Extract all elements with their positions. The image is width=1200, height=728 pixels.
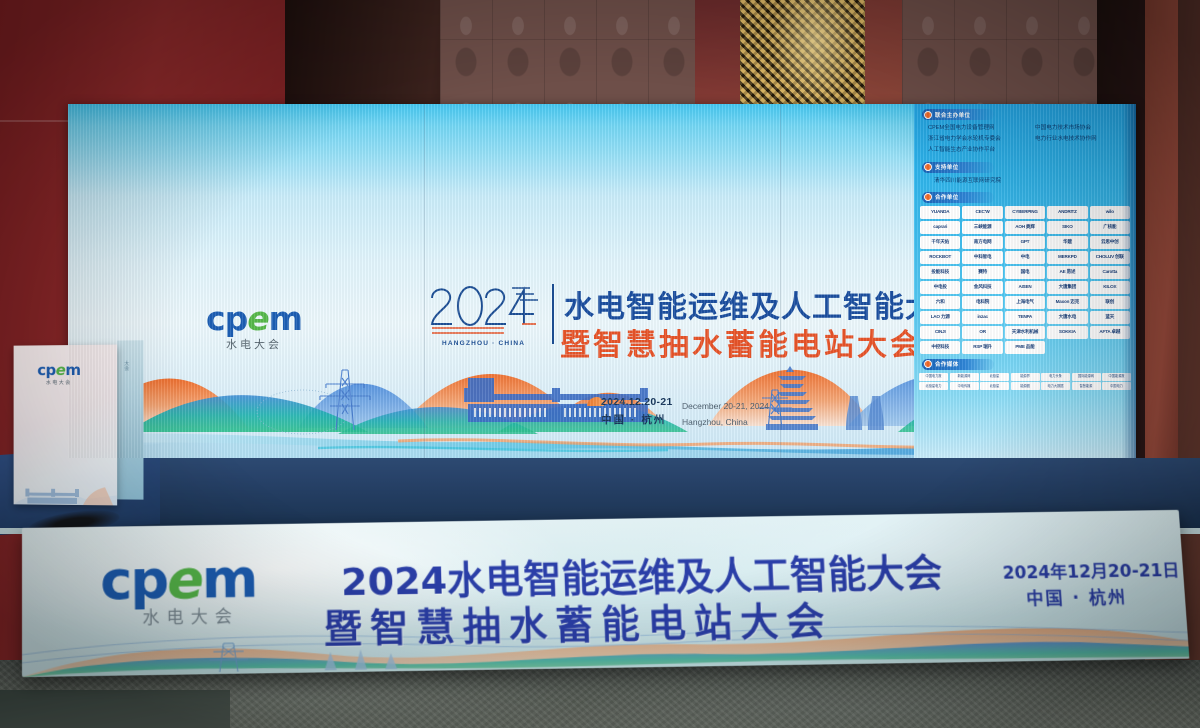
partner-logo: 天津水利机械 [1005, 326, 1045, 339]
partner-logo: 电科院 [962, 296, 1002, 309]
section-label: 合作媒体 [935, 360, 959, 368]
media-logo: 能源圈 [1011, 382, 1040, 390]
partner-logo: AE 昂述 [1047, 266, 1087, 279]
media-logo: 电力大数据 [1041, 382, 1070, 390]
section-header-media: 合作媒体 [922, 359, 994, 370]
partner-logo: GPT [1005, 236, 1045, 249]
organizer-item: 人工智能生态产业协作平台 [928, 145, 1029, 156]
organizer-item: 中国电力技术市场协会 [1035, 123, 1136, 134]
section-header-supporters: 支持单位 [922, 162, 994, 173]
led-cpem-logo: cpem 水电大会 [206, 302, 302, 352]
partner-logo: PME 品能 [1005, 341, 1045, 354]
led-date-cn-line2: 中国 · 杭州 [601, 412, 673, 427]
partner-logo: Maxon 迈克 [1047, 296, 1087, 309]
banner-cpem-logo: cpem 水电大会 [100, 552, 257, 629]
partner-logo: LAO 力源 [920, 311, 960, 324]
partner-logo: 三峡能源 [962, 221, 1002, 234]
partner-logo: ROCKBOT [920, 251, 960, 264]
bullet-icon [924, 163, 932, 171]
sponsor-panel: 联合主办单位 CPEM全国电力设备管理网 中国电力技术市场协会 浙江省电力学会水… [914, 104, 1136, 458]
partner-logo: 南方电网 [962, 236, 1002, 249]
section-header-organizers: 联合主办单位 [922, 109, 994, 120]
partner-logo: 大唐水电 [1047, 311, 1087, 324]
lectern-logo-subtitle: 水电大会 [37, 379, 80, 386]
conference-stage-photo: cpem 水电大会 HANGZHOU · CHINA 水电智能运维及人工智能大会… [0, 0, 1200, 728]
partner-logo: CEC'W [962, 206, 1002, 219]
media-logo: 北极星电力 [919, 382, 948, 390]
media-logo: 北极星 [980, 382, 1009, 390]
banner-logo-subtitle: 水电大会 [124, 602, 257, 629]
partner-logo: 大唐集团 [1047, 281, 1087, 294]
wall-light-reflection [770, 0, 860, 105]
led-date-en-line2: Hangzhou, China [682, 414, 769, 430]
logo-letter-c: c [206, 299, 225, 338]
led-cpem-subtitle: 水电大会 [206, 336, 302, 352]
partner-logo: 中科智电 [962, 251, 1002, 264]
partner-logo: AOH 奥辉 [1005, 221, 1045, 234]
media-logo: 北极星 [980, 373, 1009, 381]
lectern-cpem-logo: cpem 水电大会 [37, 363, 80, 386]
bullet-icon [924, 111, 932, 119]
carpet-dark-area [0, 690, 230, 728]
led-date-cn-line1: 2024.12.20-21 [601, 396, 673, 408]
partner-logo: CYBERPING [1005, 206, 1045, 219]
led-headline-line2: 暨智慧抽水蓄能电站大会 [560, 320, 923, 364]
partner-logo: 国电 [1005, 266, 1045, 279]
logo-letter-p: p [225, 299, 248, 338]
lectern-front-panel: cpem 水电大会 [14, 345, 118, 506]
media-logo-grid: 中国电力报 新能源网 北极星 能源界 电力头条 国际能源网 中国能源报 北极星电… [919, 373, 1131, 391]
banner-title-line2: 暨智慧抽水蓄能电站大会 [323, 589, 834, 653]
partner-logo: CINJI [920, 326, 960, 339]
partner-logo: RSP 瑞升 [962, 341, 1002, 354]
logo-letter-m: m [202, 546, 257, 610]
partner-logo: 华建 [1047, 236, 1087, 249]
partner-logo: SIKO [1047, 221, 1087, 234]
logo-letter-c: c [100, 548, 130, 612]
banner-date-line1: 2024年12月20-21日 [1002, 556, 1180, 584]
partner-logo: AISEN [1005, 281, 1045, 294]
section-label: 支持单位 [935, 163, 959, 171]
headline-divider [552, 284, 554, 344]
partner-logo: 上海电气 [1005, 296, 1045, 309]
partner-logo: 中控科技 [920, 341, 960, 354]
section-label: 联合主办单位 [935, 111, 970, 119]
logo-letter-e: e [167, 547, 202, 611]
logo-letter-e: e [247, 299, 268, 338]
media-logo: 国际能源网 [1072, 373, 1101, 381]
front-stage-banner: cpem 水电大会 2024水电智能运维及人工智能大会 暨智慧抽水蓄能电站大会 … [22, 510, 1189, 677]
led-date-en-line1: December 20-21, 2024 [682, 398, 769, 414]
media-logo: 能源界 [1011, 373, 1040, 381]
partner-logo: 中电 [1005, 251, 1045, 264]
organizer-item: 浙江省电力学会水轮机专委会 [928, 134, 1029, 145]
partner-logo: 中电投 [920, 281, 960, 294]
partner-logo: TENPA [1005, 311, 1045, 324]
partner-logo: OR [962, 326, 1002, 339]
bullet-icon [924, 360, 932, 368]
partner-logo: 六和 [920, 296, 960, 309]
led-screen-backdrop: cpem 水电大会 HANGZHOU · CHINA 水电智能运维及人工智能大会… [68, 104, 1136, 458]
lectern-podium: cpem 水电大会 大会 [14, 340, 142, 507]
media-logo: 中国电力报 [919, 373, 948, 381]
partner-logo: MERKPD [1047, 251, 1087, 264]
partner-logo-grid: YUANDA CEC'W CYBERPING ANDRITZ wilo capr… [920, 206, 1130, 354]
year-emblem-2024 [426, 280, 544, 342]
media-logo: 智慧能源 [1072, 382, 1101, 390]
media-logo: 电力头条 [1041, 373, 1070, 381]
partner-logo: 投能科技 [920, 266, 960, 279]
section-header-partners: 合作单位 [922, 192, 994, 203]
partner-logo: YUANDA [920, 206, 960, 219]
logo-letter-m: m [269, 299, 302, 338]
organizer-item: CPEM全国电力设备管理网 [928, 123, 1029, 134]
lectern-side-panel [117, 340, 143, 499]
lectern-landscape-graphic [14, 469, 118, 506]
media-logo: 新能源网 [950, 373, 979, 381]
organizer-list: CPEM全国电力设备管理网 中国电力技术市场协会 浙江省电力学会水轮机专委会 电… [928, 123, 1136, 157]
media-logo: 中电传媒 [950, 382, 979, 390]
led-date-block-cn: 2024.12.20-21 中国 · 杭州 [601, 396, 673, 427]
led-panel-seam [780, 104, 781, 458]
partner-logo: 金风科技 [962, 281, 1002, 294]
partner-logo: SOKKIA [1047, 326, 1087, 339]
partner-logo: ANDRITZ [1047, 206, 1087, 219]
partner-logo: inzac [962, 311, 1002, 324]
banner-date-line2: 中国 · 杭州 [1026, 583, 1128, 610]
logo-letter-m: m [65, 361, 80, 379]
emblem-caption: HANGZHOU · CHINA [442, 340, 525, 347]
led-panel-seam [424, 104, 425, 458]
logo-letter-e: e [56, 361, 66, 379]
section-label: 合作单位 [935, 193, 959, 201]
led-date-block-en: December 20-21, 2024 Hangzhou, China [682, 398, 769, 430]
partner-logo: 千年天佑 [920, 236, 960, 249]
partner-logo: caprari [920, 221, 960, 234]
supporter-item: 清华四川能源互联网研究院 [934, 176, 1136, 187]
bullet-icon [924, 193, 932, 201]
logo-letter-p: p [46, 361, 56, 379]
logo-letter-p: p [130, 548, 167, 612]
organizer-item: 电力行业水电技术协作网 [1035, 134, 1136, 145]
lectern-side-text: 大会 [123, 361, 130, 371]
partner-logo: 赛特 [962, 266, 1002, 279]
panel-edge-shadow [1122, 104, 1136, 458]
